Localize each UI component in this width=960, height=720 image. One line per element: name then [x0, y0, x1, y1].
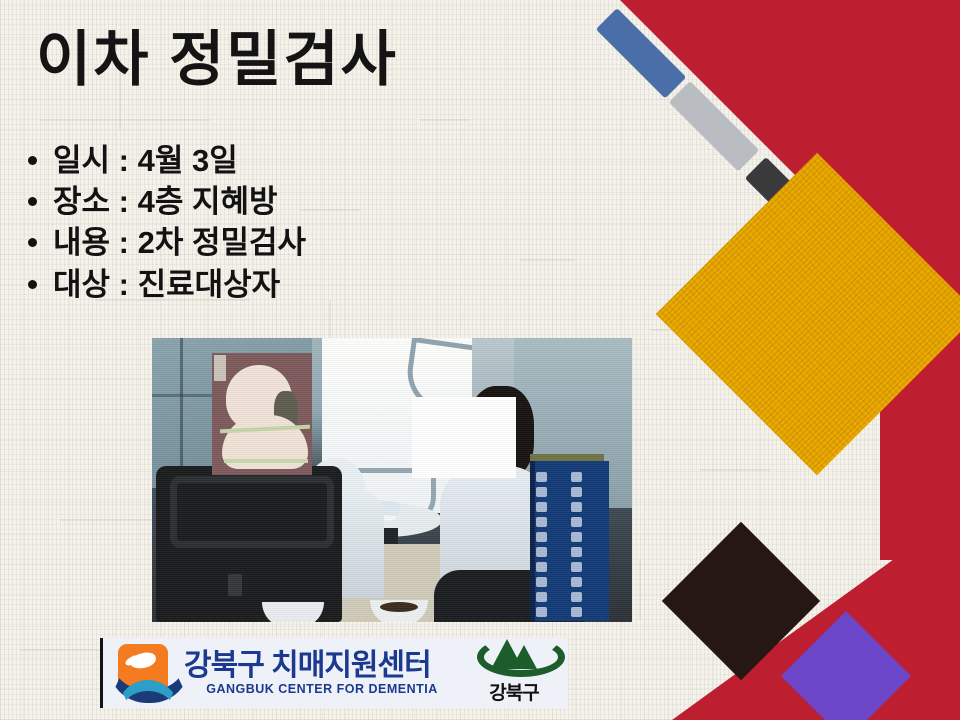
desktop-icon: [536, 517, 547, 527]
logo-english-name: GANGBUK CENTER FOR DEMENTIA: [184, 682, 466, 696]
desktop-icon: [536, 562, 547, 572]
desktop-icon: [571, 472, 582, 482]
inset-corner-notch: [214, 355, 226, 381]
desktop-icon: [536, 472, 547, 482]
center-logo-icon: [112, 642, 174, 704]
bullet-text: 장소 : 4층 지혜방: [53, 181, 278, 222]
desktop-icon: [536, 547, 547, 557]
photo-desktop-icons: [536, 472, 600, 612]
desktop-icon: [571, 532, 582, 542]
bullet-dot-icon: [28, 280, 37, 289]
bullet-text: 내용 : 2차 정밀검사: [53, 222, 306, 263]
desktop-icon: [536, 487, 547, 497]
logo-text-block: 강북구 치매지원센터 GANGBUK CENTER FOR DEMENTIA: [174, 650, 466, 696]
inset-strap-lower: [224, 459, 308, 463]
slide-canvas: 이차 정밀검사 일시 : 4월 3일 장소 : 4층 지혜방 내용 : 2차 정…: [0, 0, 960, 720]
bullet-dot-icon: [28, 197, 37, 206]
list-item: 내용 : 2차 정밀검사: [28, 222, 588, 263]
desktop-icon: [571, 517, 582, 527]
photo-bowl-left: [262, 602, 324, 622]
desktop-icon: [571, 592, 582, 602]
desktop-icon: [571, 607, 582, 617]
mountain-icon: [477, 641, 551, 677]
bullet-dot-icon: [28, 156, 37, 165]
desktop-icon: [536, 607, 547, 617]
bullet-text: 일시 : 4월 3일: [53, 140, 238, 181]
list-item: 대상 : 진료대상자: [28, 264, 588, 305]
photo-inset-neckbrace: [212, 353, 312, 475]
photo-wheelchair: [156, 466, 342, 622]
logo-korean-name: 강북구 치매지원센터: [184, 650, 466, 682]
desktop-icon: [571, 547, 582, 557]
organization-logo: 강북구 치매지원센터 GANGBUK CENTER FOR DEMENTIA 강…: [100, 638, 568, 708]
district-logo: 강북구: [466, 641, 568, 705]
desktop-icon: [536, 592, 547, 602]
list-item: 장소 : 4층 지혜방: [28, 181, 588, 222]
photo-bowl-right: [370, 600, 428, 622]
desktop-icon: [536, 577, 547, 587]
desktop-icon: [571, 562, 582, 572]
bullet-dot-icon: [28, 238, 37, 247]
page-title: 이차 정밀검사: [36, 28, 398, 91]
privacy-mask-rectangle: [412, 397, 516, 478]
bullet-list: 일시 : 4월 3일 장소 : 4층 지혜방 내용 : 2차 정밀검사 대상 :…: [28, 140, 588, 305]
desktop-icon: [571, 577, 582, 587]
list-item: 일시 : 4월 3일: [28, 140, 588, 181]
district-name: 강북구: [489, 678, 538, 705]
mountain-base-ring: [477, 637, 565, 677]
desktop-icon: [571, 502, 582, 512]
bullet-text: 대상 : 진료대상자: [53, 264, 280, 305]
desktop-icon: [536, 502, 547, 512]
clinic-photo: [152, 338, 632, 622]
desktop-icon: [536, 532, 547, 542]
desktop-icon: [571, 487, 582, 497]
